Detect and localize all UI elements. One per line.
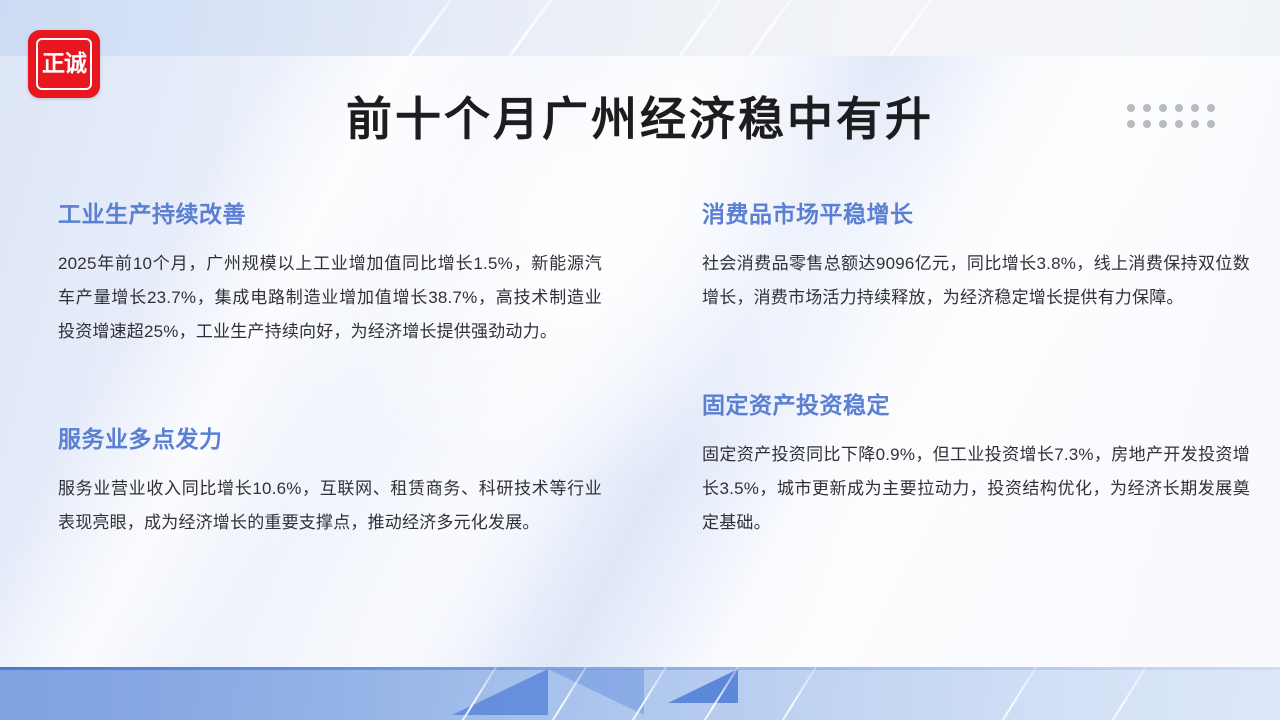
block-heading: 服务业多点发力 — [58, 425, 640, 454]
grid-dot — [1159, 104, 1167, 112]
grid-dot — [1143, 120, 1151, 128]
grid-dot — [1207, 120, 1215, 128]
content-block-fixed-asset: 固定资产投资稳定 固定资产投资同比下降0.9%，但工业投资增长7.3%，房地产开… — [660, 391, 1280, 540]
bottom-band-triangle — [548, 669, 644, 715]
content-block-services: 服务业多点发力 服务业营业收入同比增长10.6%，互联网、租赁商务、科研技术等行… — [20, 425, 640, 540]
block-heading: 固定资产投资稳定 — [702, 391, 1250, 420]
block-body: 服务业营业收入同比增长10.6%，互联网、租赁商务、科研技术等行业表现亮眼，成为… — [58, 472, 602, 540]
grid-dot — [1127, 104, 1135, 112]
dot-grid-decoration — [1127, 104, 1223, 136]
brand-logo-text: 正诚 — [42, 53, 86, 76]
grid-dot — [1191, 120, 1199, 128]
bottom-band-triangle — [452, 669, 548, 715]
grid-dot — [1207, 104, 1215, 112]
grid-dot — [1143, 104, 1151, 112]
right-column: 消费品市场平稳增长 社会消费品零售总额达9096亿元，同比增长3.8%，线上消费… — [660, 200, 1280, 554]
grid-dot — [1191, 104, 1199, 112]
brand-logo-frame: 正诚 — [36, 38, 92, 90]
block-body: 固定资产投资同比下降0.9%，但工业投资增长7.3%，房地产开发投资增长3.5%… — [702, 438, 1250, 540]
top-decorative-band — [0, 0, 1280, 56]
grid-dot — [1127, 120, 1135, 128]
content-block-industrial: 工业生产持续改善 2025年前10个月，广州规模以上工业增加值同比增长1.5%，… — [20, 200, 640, 349]
block-heading: 消费品市场平稳增长 — [702, 200, 1250, 229]
content-block-consumption: 消费品市场平稳增长 社会消费品零售总额达9096亿元，同比增长3.8%，线上消费… — [660, 200, 1280, 315]
block-body: 社会消费品零售总额达9096亿元，同比增长3.8%，线上消费保持双位数增长，消费… — [702, 247, 1250, 315]
grid-dot — [1159, 120, 1167, 128]
grid-dot — [1175, 104, 1183, 112]
brand-logo: 正诚 — [28, 30, 100, 98]
page-title: 前十个月广州经济稳中有升 — [0, 92, 1280, 147]
bottom-decorative-band — [0, 667, 1280, 720]
slide-root: 正诚 前十个月广州经济稳中有升 工业生产持续改善 2025年前10个月，广州规模… — [0, 0, 1280, 720]
grid-dot — [1175, 120, 1183, 128]
content-grid: 工业生产持续改善 2025年前10个月，广州规模以上工业增加值同比增长1.5%，… — [0, 200, 1280, 554]
block-body: 2025年前10个月，广州规模以上工业增加值同比增长1.5%，新能源汽车产量增长… — [58, 247, 602, 349]
block-heading: 工业生产持续改善 — [58, 200, 640, 229]
bottom-band-triangle — [668, 669, 738, 703]
left-column: 工业生产持续改善 2025年前10个月，广州规模以上工业增加值同比增长1.5%，… — [20, 200, 640, 554]
